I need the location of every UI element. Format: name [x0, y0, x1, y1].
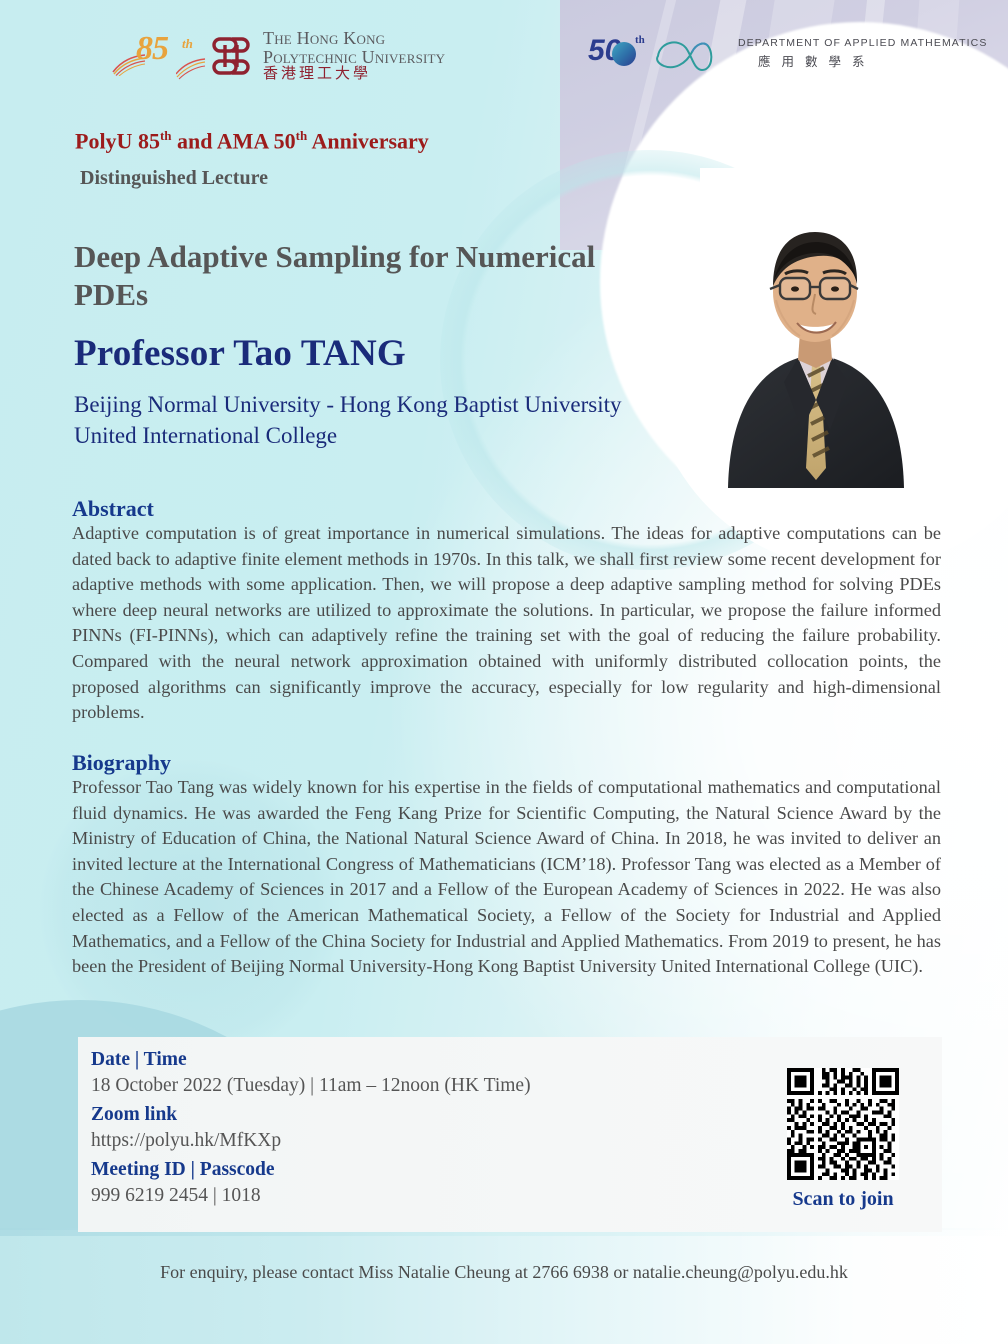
ama-50th-anniversary-mark: 50 th [588, 32, 650, 76]
polyu-knot-logo-icon [208, 33, 254, 79]
abstract-heading: Abstract [72, 496, 154, 522]
polyu-wordmark: The Hong Kong Polytechnic University 香港理… [263, 29, 445, 82]
swoosh-right-icon [176, 58, 206, 80]
lecture-series-label: Distinguished Lecture [80, 167, 268, 190]
lecture-poster: 85 th The Hong Kong [0, 0, 1008, 1344]
date-time-label: Date | Time [91, 1049, 531, 1071]
biography-heading: Biography [72, 750, 171, 776]
anniversary-sup-85: th [160, 128, 172, 143]
page-title: Deep Adaptive Sampling for Numerical PDE… [74, 238, 614, 314]
speaker-affiliation: Beijing Normal University - Hong Kong Ba… [74, 390, 634, 451]
meeting-id-passcode-label: Meeting ID | Passcode [91, 1159, 531, 1181]
ama-curve-logo-icon [652, 32, 728, 76]
speaker-name: Professor Tao TANG [74, 332, 406, 375]
polyu-anniversary-superscript: th [182, 36, 193, 52]
biography-body: Professor Tao Tang was widely known for … [72, 775, 941, 980]
polyu-anniversary-number: 85 [136, 30, 168, 68]
ama-logo: 50 th DEPARTMENT OF APPLIED MATHEMATICS … [588, 32, 987, 76]
polyu-name-line1: The Hong Kong [263, 29, 445, 47]
qr-code-block[interactable]: Scan to join [769, 1068, 917, 1211]
event-details-box: Date | Time 18 October 2022 (Tuesday) | … [78, 1037, 942, 1232]
anniversary-sup-50: th [296, 128, 308, 143]
anniversary-middle: and AMA 50 [172, 128, 296, 153]
speaker-portrait [700, 168, 930, 488]
speaker-photo-illustration [700, 168, 930, 488]
date-time-value: 18 October 2022 (Tuesday) | 11am – 12noo… [91, 1075, 531, 1097]
polyu-name-chinese: 香港理工大學 [263, 67, 445, 82]
polyu-logo: 85 th The Hong Kong [112, 28, 445, 84]
qr-code-icon[interactable] [787, 1068, 899, 1180]
header-logos: 85 th The Hong Kong [0, 0, 1008, 108]
enquiry-footer: For enquiry, please contact Miss Natalie… [0, 1262, 1008, 1283]
background-bottom-fade [0, 1230, 1008, 1344]
ama-anniversary-superscript: th [635, 34, 645, 46]
polyu-name-line2: Polytechnic University [263, 48, 445, 66]
ama-department-name-en: DEPARTMENT OF APPLIED MATHEMATICS [738, 37, 987, 50]
abstract-body: Adaptive computation is of great importa… [72, 521, 941, 726]
anniversary-prefix: PolyU 85 [75, 128, 160, 153]
zoom-link-label: Zoom link [91, 1104, 531, 1126]
anniversary-banner: PolyU 85th and AMA 50th Anniversary [75, 128, 429, 154]
meeting-id-passcode-value: 999 6219 2454 | 1018 [91, 1185, 531, 1207]
qr-code-caption: Scan to join [769, 1188, 917, 1211]
anniversary-suffix: Anniversary [307, 128, 429, 153]
globe-icon [612, 42, 636, 66]
polyu-85th-anniversary-mark: 85 th [112, 28, 204, 84]
ama-department-name-zh: 應用數學系 [758, 55, 987, 71]
event-details-list: Date | Time 18 October 2022 (Tuesday) | … [91, 1049, 531, 1207]
zoom-link-value[interactable]: https://polyu.hk/MfKXp [91, 1130, 531, 1152]
ama-wordmark: DEPARTMENT OF APPLIED MATHEMATICS 應用數學系 [738, 37, 987, 71]
